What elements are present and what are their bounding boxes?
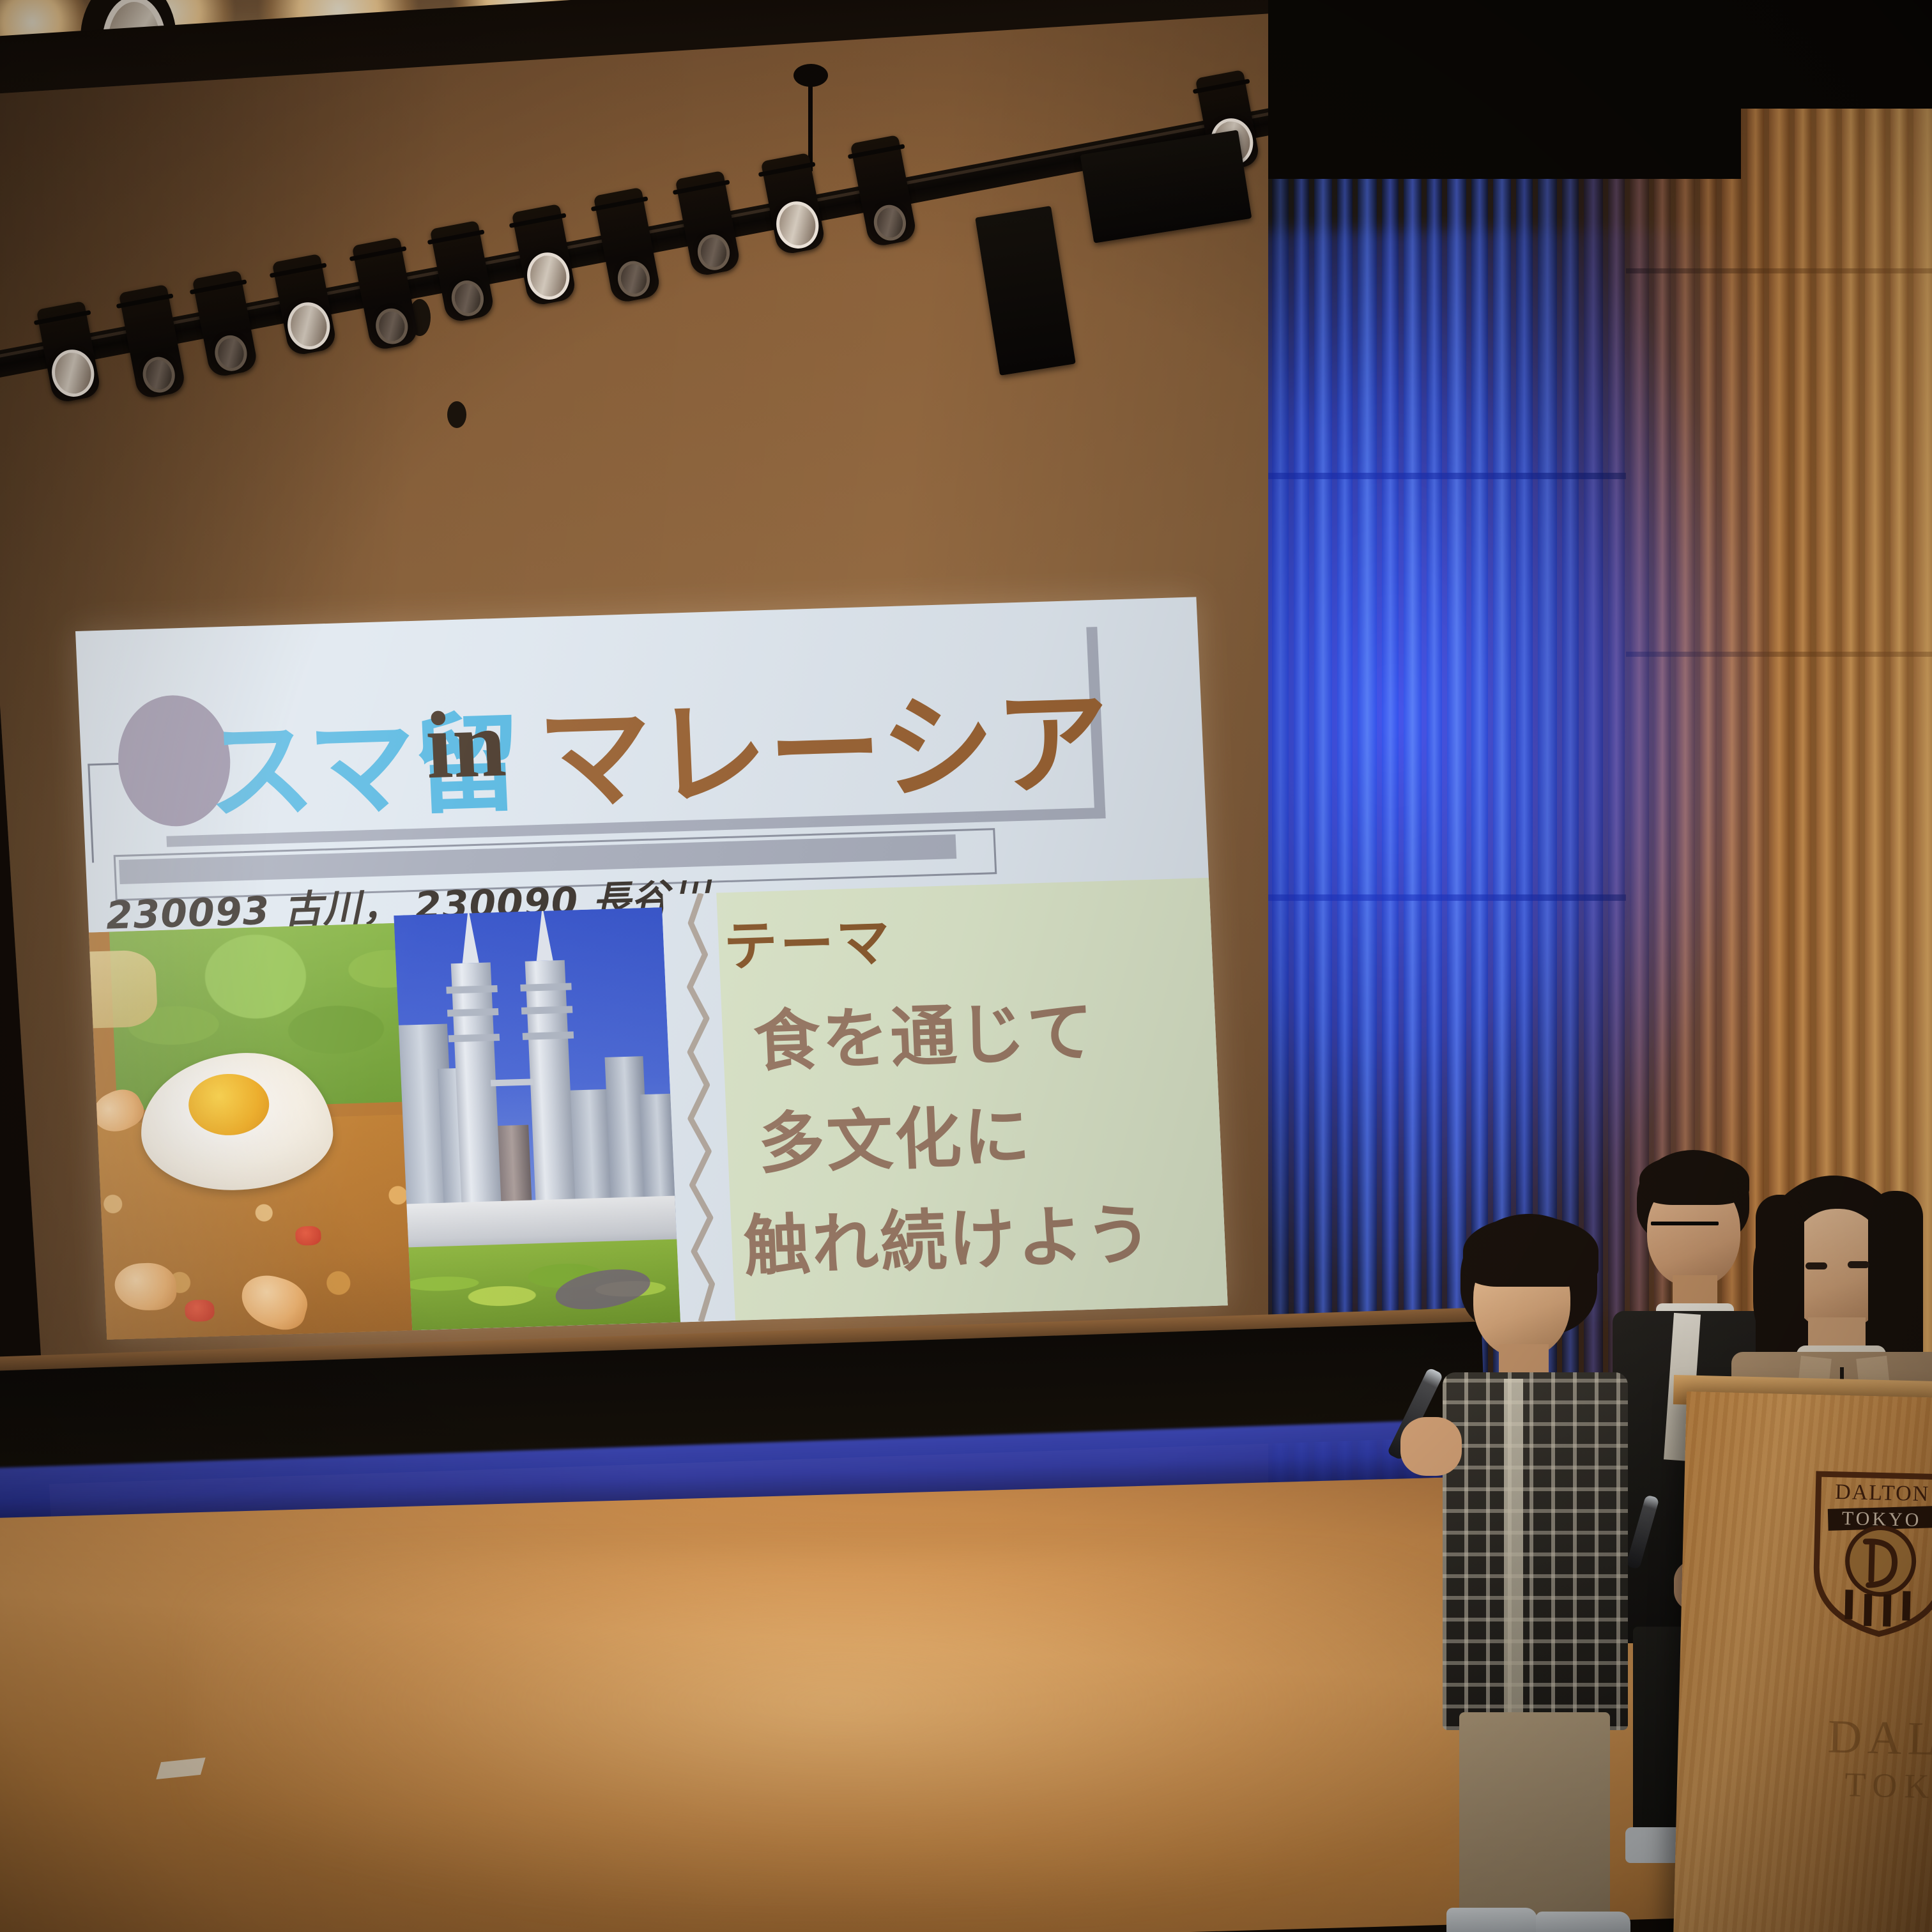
eyeglasses-icon bbox=[1651, 1222, 1719, 1225]
spotlight-lens bbox=[212, 333, 250, 374]
tomato-piece bbox=[295, 1226, 321, 1246]
spotlight-lens bbox=[523, 249, 574, 303]
spotlight-lens bbox=[372, 305, 411, 346]
tower-band bbox=[447, 1008, 498, 1016]
auditorium-stage-photo: スマ留 in マレーシア 230093 古川， 230090 長谷川 bbox=[0, 0, 1932, 1932]
spotlight-yoke bbox=[34, 310, 91, 325]
eye bbox=[1805, 1262, 1827, 1269]
podium-engraved-line-2: TOKYO bbox=[1826, 1764, 1932, 1808]
hand-holding-microphone bbox=[1400, 1417, 1462, 1476]
hair-fringe bbox=[1463, 1216, 1598, 1287]
theme-panel: テーマ 食を通じて 多文化に 触れ続けよう bbox=[666, 878, 1227, 1322]
tower-band bbox=[523, 1031, 574, 1039]
spotlight-lens bbox=[48, 346, 98, 401]
theme-line-1: 食を通じて bbox=[751, 977, 1098, 1084]
spotlight-yoke bbox=[270, 263, 327, 278]
tower-band bbox=[448, 1034, 500, 1042]
skybridge bbox=[491, 1078, 534, 1086]
dalton-tokyo-crest-icon: DALTON TOKYO bbox=[1809, 1470, 1932, 1639]
wall-fixture-dot bbox=[447, 401, 466, 428]
tower-band bbox=[521, 1006, 572, 1014]
theme-line-3: 触れ続けよう bbox=[741, 1180, 1155, 1289]
projected-slide: スマ留 in マレーシア 230093 古川， 230090 長谷川 bbox=[75, 597, 1228, 1340]
spotlight-lens bbox=[615, 258, 653, 299]
svg-text:DALTON: DALTON bbox=[1835, 1480, 1930, 1506]
spotlight-yoke bbox=[1193, 79, 1250, 94]
theme-line-2: 多文化に bbox=[756, 1082, 1034, 1186]
spotlight-lens bbox=[284, 299, 334, 353]
tower-band bbox=[446, 985, 497, 993]
stage-light-pool bbox=[192, 1552, 1533, 1910]
ceiling-drop-knob bbox=[793, 64, 828, 87]
spotlight-lens bbox=[448, 278, 487, 319]
sneaker bbox=[1536, 1912, 1630, 1932]
plaid-flannel-shirt bbox=[1443, 1372, 1628, 1730]
nasi-goreng-photo bbox=[75, 923, 421, 1340]
spotlight-yoke bbox=[190, 279, 247, 295]
spotlight-yoke bbox=[673, 180, 730, 195]
tower-band bbox=[520, 983, 571, 991]
upper-right-dark-niche bbox=[1268, 0, 1932, 109]
spotlight-yoke bbox=[848, 144, 905, 159]
spotlight-lens bbox=[694, 232, 733, 273]
slide-title-destination: マレーシア bbox=[534, 651, 1114, 832]
spotlight-yoke bbox=[427, 229, 485, 245]
spotlight-lens bbox=[772, 198, 823, 252]
spotlight-yoke bbox=[591, 196, 648, 211]
spotlight-yoke bbox=[509, 213, 567, 228]
tomato-piece bbox=[185, 1299, 215, 1322]
spotlight-lens bbox=[871, 202, 909, 243]
podium-engraved-wordmark: DALTON TOKYO bbox=[1826, 1710, 1932, 1808]
spotlight-yoke bbox=[116, 293, 174, 309]
podium-engraved-line-1: DALTON bbox=[1827, 1710, 1932, 1768]
eye bbox=[1848, 1261, 1869, 1268]
spotlight-lens bbox=[140, 354, 178, 395]
petronas-towers-photo bbox=[394, 907, 680, 1330]
shirt-inner-placket bbox=[1504, 1379, 1523, 1724]
sneaker bbox=[1446, 1908, 1537, 1932]
lectern-podium: DALTON TOKYO bbox=[1673, 1391, 1932, 1932]
presenter-with-microphone bbox=[1437, 1214, 1642, 1932]
title-connector-line-v bbox=[88, 763, 94, 862]
slide-title-connector: in bbox=[424, 689, 509, 801]
spotlight-yoke bbox=[758, 162, 816, 177]
spotlight-yoke bbox=[349, 246, 407, 261]
beige-trousers bbox=[1459, 1712, 1610, 1923]
theme-heading: テーマ bbox=[722, 899, 894, 981]
